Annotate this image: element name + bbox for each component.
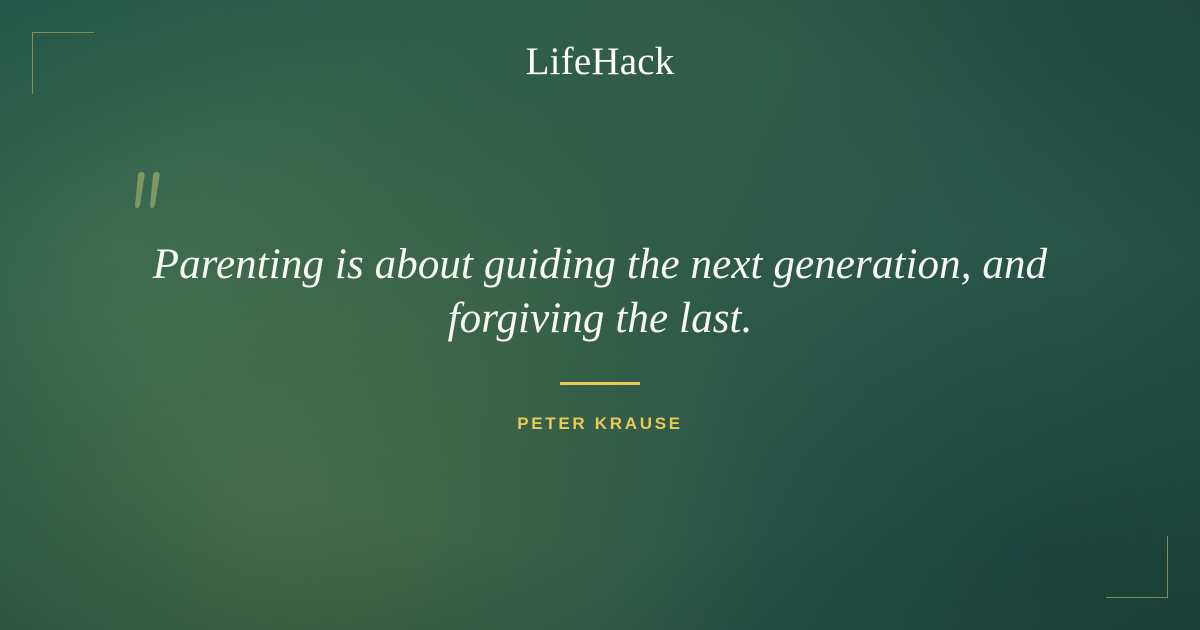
quote-block: Parenting is about guiding the next gene… (100, 238, 1100, 346)
divider-wrapper (0, 382, 1200, 385)
author-attribution: PETER KRAUSE (0, 414, 1200, 434)
quote-card: LifeHack Parenting is about guiding the … (0, 0, 1200, 630)
gold-divider (560, 382, 640, 385)
brand-logo: LifeHack (0, 38, 1200, 86)
quote-line-2: forgiving the last. (100, 292, 1100, 346)
quote-line-1: Parenting is about guiding the next gene… (100, 238, 1100, 292)
corner-bracket-bottom-right (1106, 536, 1168, 598)
double-quote-icon (131, 170, 175, 218)
